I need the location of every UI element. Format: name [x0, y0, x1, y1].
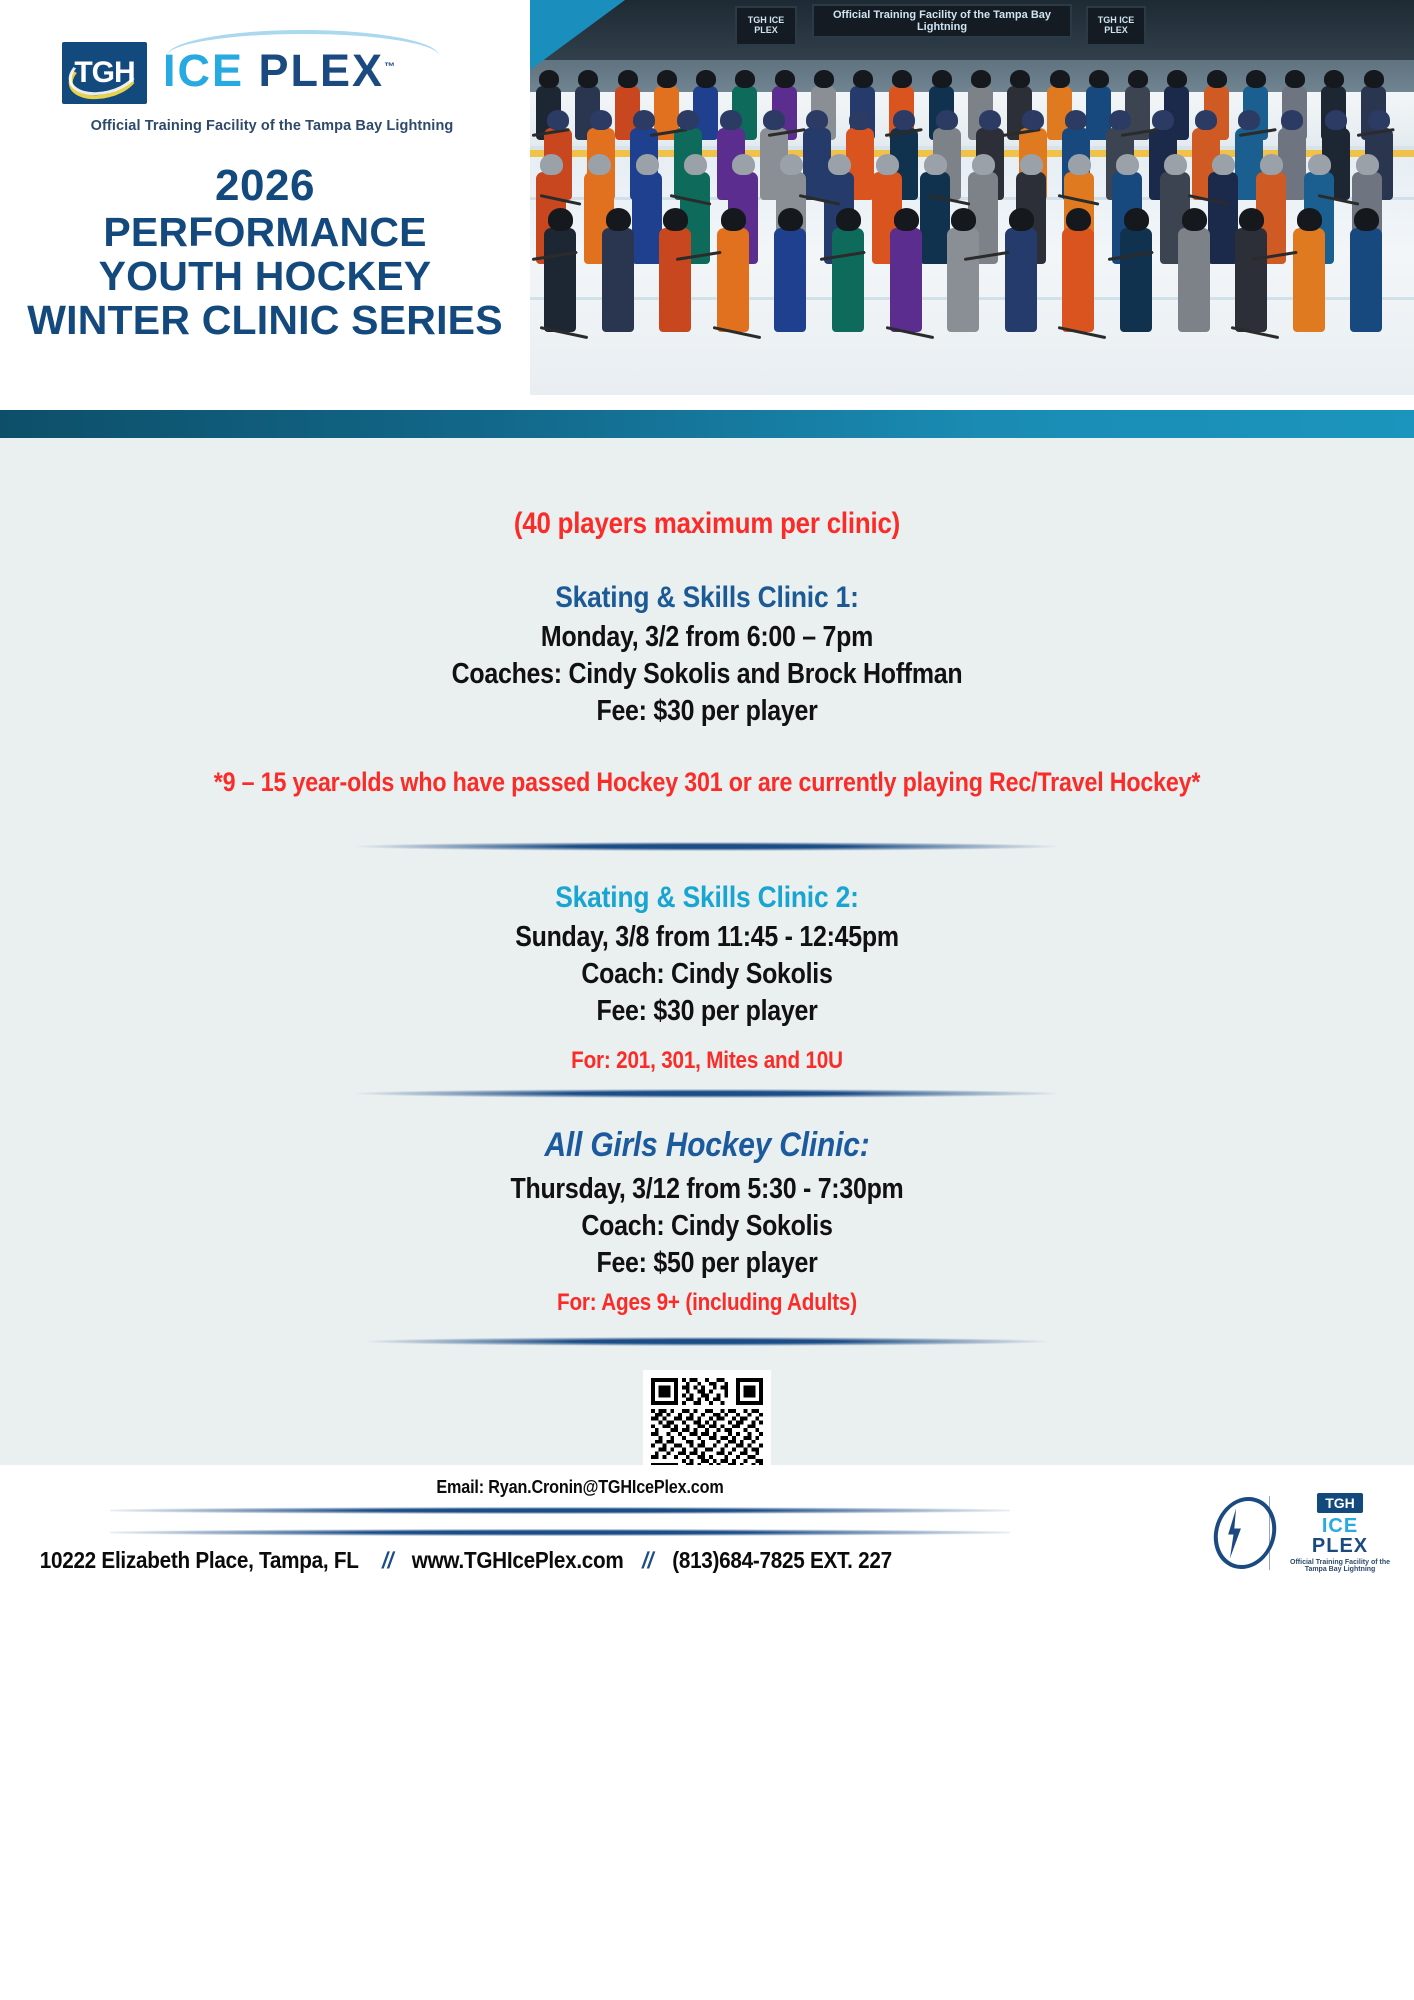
player-helmet-icon — [1364, 70, 1384, 88]
player-helmet-icon — [1195, 110, 1217, 130]
footer-logo-tagline: Official Training Facility of the Tampa … — [1280, 1559, 1400, 1573]
section-divider-3 — [367, 1337, 1047, 1346]
iceplex-arc-icon — [167, 30, 439, 56]
clinic-3-coach: Coach: Cindy Sokolis — [99, 1208, 1315, 1245]
player-helmet-icon — [849, 110, 871, 130]
player-helmet-icon — [1297, 208, 1322, 231]
clinic-3-heading: All Girls Hockey Clinic: — [85, 1126, 1329, 1165]
hockey-player — [1350, 228, 1382, 332]
clinic-block-1: Skating & Skills Clinic 1: Monday, 3/2 f… — [0, 581, 1414, 729]
player-helmet-icon — [1356, 154, 1379, 175]
player-helmet-icon — [1022, 110, 1044, 130]
title-line-1: PERFORMANCE — [0, 210, 530, 254]
hockey-player — [1235, 228, 1267, 332]
player-helmet-icon — [547, 110, 569, 130]
player-helmet-icon — [780, 154, 803, 175]
player-helmet-icon — [1246, 70, 1266, 88]
title-line-3: WINTER CLINIC SERIES — [0, 298, 530, 342]
hockey-player — [544, 228, 576, 332]
clinic-1-coaches: Coaches: Cindy Sokolis and Brock Hoffman — [99, 656, 1315, 693]
player-helmet-icon — [763, 110, 785, 130]
player-helmet-icon — [618, 70, 638, 88]
clinic-2-eligibility-note: For: 201, 301, Mites and 10U — [99, 1047, 1315, 1075]
title-year: 2026 — [0, 162, 530, 210]
clinic-2-coach: Coach: Cindy Sokolis — [99, 956, 1315, 993]
player-helmet-icon — [1124, 208, 1149, 231]
rink-banner-left: TGH ICE PLEX — [735, 6, 797, 46]
hockey-player — [1120, 228, 1152, 332]
footer-plex-text: PLEX — [1280, 1536, 1400, 1556]
clinic-block-2: Skating & Skills Clinic 2: Sunday, 3/8 f… — [0, 881, 1414, 1029]
player-helmet-icon — [1207, 70, 1227, 88]
player-helmet-icon — [732, 154, 755, 175]
footer-iceplex-logo: TGH ICE PLEX Official Training Facility … — [1280, 1493, 1400, 1573]
rink-banner-center: Official Training Facility of the Tampa … — [812, 4, 1072, 38]
clinic-2-fee: Fee: $30 per player — [99, 993, 1315, 1030]
player-helmet-icon — [696, 70, 716, 88]
player-helmet-icon — [539, 70, 559, 88]
player-helmet-icon — [1152, 110, 1174, 130]
hockey-player — [1293, 228, 1325, 332]
player-helmet-icon — [932, 70, 952, 88]
player-helmet-icon — [1050, 70, 1070, 88]
hockey-player — [890, 228, 922, 332]
hockey-player — [602, 228, 634, 332]
hockey-player — [1062, 228, 1094, 332]
team-group-photo: TGH ICE PLEX Official Training Facility … — [530, 0, 1414, 395]
hockey-player — [920, 172, 950, 264]
trademark-symbol: ™ — [384, 61, 395, 73]
hockey-player — [1178, 228, 1210, 332]
clinic-2-datetime: Sunday, 3/8 from 11:45 - 12:45pm — [99, 919, 1315, 956]
player-helmet-icon — [663, 208, 688, 231]
poster-title: 2026 PERFORMANCE YOUTH HOCKEY WINTER CLI… — [0, 162, 530, 342]
tgh-logo-mark: TGH — [62, 42, 147, 104]
player-helmet-icon — [1308, 154, 1331, 175]
player-helmet-icon — [548, 208, 573, 231]
player-helmet-icon — [924, 154, 947, 175]
player-helmet-icon — [1089, 70, 1109, 88]
player-helmet-icon — [1285, 70, 1305, 88]
player-helmet-icon — [1324, 70, 1344, 88]
player-helmet-icon — [721, 208, 746, 231]
poster-header: TGH ICE PLEX™ Official Training Facility… — [0, 0, 1414, 410]
player-helmet-icon — [1164, 154, 1187, 175]
clinic-2-heading: Skating & Skills Clinic 2: — [85, 881, 1329, 915]
player-helmet-icon — [1238, 110, 1260, 130]
photo-corner-accent — [530, 0, 625, 70]
player-helmet-icon — [1281, 110, 1303, 130]
player-helmet-icon — [972, 154, 995, 175]
clinic-3-eligibility-note: For: Ages 9+ (including Adults) — [99, 1289, 1315, 1317]
player-helmet-icon — [578, 70, 598, 88]
clinic-1-fee: Fee: $30 per player — [99, 693, 1315, 730]
footer-phone[interactable]: (813)684-7825 EXT. 227 — [672, 1547, 892, 1574]
footer-address: 10222 Elizabeth Place, Tampa, FL — [40, 1547, 359, 1574]
player-helmet-icon — [1325, 110, 1347, 130]
clinic-3-fee: Fee: $50 per player — [99, 1245, 1315, 1282]
header-divider-bar — [0, 410, 1414, 438]
player-helmet-icon — [720, 110, 742, 130]
section-divider-2 — [357, 1089, 1057, 1098]
title-line-2: YOUTH HOCKEY — [0, 254, 530, 298]
poster-footer: Email: Ryan.Cronin@TGHIcePlex.com 10222 … — [0, 1465, 1414, 1593]
player-helmet-icon — [806, 110, 828, 130]
player-helmet-icon — [892, 70, 912, 88]
player-helmet-icon — [894, 208, 919, 231]
player-helmet-icon — [1167, 70, 1187, 88]
lightning-bolt-icon — [1210, 1489, 1259, 1577]
player-helmet-icon — [836, 208, 861, 231]
player-helmet-icon — [684, 154, 707, 175]
player-helmet-icon — [1116, 154, 1139, 175]
player-helmet-icon — [936, 110, 958, 130]
player-helmet-icon — [540, 154, 563, 175]
player-helmet-icon — [1010, 70, 1030, 88]
clinic-1-heading: Skating & Skills Clinic 1: — [85, 581, 1329, 615]
header-left-panel: TGH ICE PLEX™ Official Training Facility… — [0, 0, 530, 410]
player-helmet-icon — [1182, 208, 1207, 231]
footer-separator-2: // — [634, 1547, 661, 1574]
player-helmet-icon — [633, 110, 655, 130]
player-helmet-icon — [1260, 154, 1283, 175]
player-helmet-icon — [1020, 154, 1043, 175]
player-helmet-icon — [1354, 208, 1379, 231]
player-helmet-icon — [1128, 70, 1148, 88]
player-helmet-icon — [814, 70, 834, 88]
hockey-player — [717, 228, 749, 332]
player-helmet-icon — [590, 110, 612, 130]
player-helmet-icon — [853, 70, 873, 88]
header-tagline: Official Training Facility of the Tampa … — [62, 118, 482, 134]
divider-gap — [0, 438, 1414, 449]
clinic-1-eligibility-note: *9 – 15 year-olds who have passed Hockey… — [99, 767, 1315, 798]
footer-email[interactable]: Email: Ryan.Cronin@TGHIcePlex.com — [58, 1477, 1102, 1498]
clinic-3-datetime: Thursday, 3/12 from 5:30 - 7:30pm — [99, 1171, 1315, 1208]
footer-logo: TGH ICE PLEX Official Training Facility … — [1210, 1483, 1400, 1583]
player-helmet-icon — [1066, 208, 1091, 231]
player-helmet-icon — [677, 110, 699, 130]
hockey-player — [947, 228, 979, 332]
footer-rule-top — [110, 1507, 1010, 1514]
clinic-1-datetime: Monday, 3/2 from 6:00 – 7pm — [99, 619, 1315, 656]
player-helmet-icon — [778, 208, 803, 231]
hockey-player — [832, 228, 864, 332]
max-players-note: (40 players maximum per clinic) — [99, 507, 1315, 541]
hockey-player — [1208, 172, 1238, 264]
player-helmet-icon — [588, 154, 611, 175]
player-helmet-icon — [657, 70, 677, 88]
player-helmet-icon — [1368, 110, 1390, 130]
clinic-block-3: All Girls Hockey Clinic: Thursday, 3/12 … — [0, 1126, 1414, 1281]
hockey-player — [774, 228, 806, 332]
player-helmet-icon — [1109, 110, 1131, 130]
player-helmet-icon — [893, 110, 915, 130]
player-helmet-icon — [979, 110, 1001, 130]
footer-tgh-text: TGH — [1317, 1493, 1363, 1513]
hockey-player — [659, 228, 691, 332]
rink-banner-right: TGH ICE PLEX — [1086, 6, 1146, 46]
hockey-player — [1005, 228, 1037, 332]
hockey-player — [632, 172, 662, 264]
tgh-logo-text: TGH — [74, 56, 134, 90]
player-helmet-icon — [606, 208, 631, 231]
section-divider-1 — [357, 842, 1057, 851]
player-helmet-icon — [971, 70, 991, 88]
player-helmet-icon — [636, 154, 659, 175]
player-helmet-icon — [1065, 110, 1087, 130]
iceplex-wordmark: ICE PLEX™ — [163, 42, 395, 93]
player-helmet-icon — [735, 70, 755, 88]
player-helmet-icon — [876, 154, 899, 175]
player-helmet-icon — [951, 208, 976, 231]
player-helmet-icon — [1068, 154, 1091, 175]
poster-body: (40 players maximum per clinic) Skating … — [0, 449, 1414, 1593]
player-helmet-icon — [828, 154, 851, 175]
player-helmet-icon — [1239, 208, 1264, 231]
footer-contact-row: 10222 Elizabeth Place, Tampa, FL // www.… — [22, 1547, 1272, 1574]
footer-ice-text: ICE — [1280, 1516, 1400, 1536]
player-helmet-icon — [1009, 208, 1034, 231]
player-helmet-icon — [1212, 154, 1235, 175]
footer-rule-bottom — [110, 1529, 1010, 1536]
footer-separator-1: // — [375, 1547, 402, 1574]
tgh-ice-plex-logo: TGH ICE PLEX™ — [62, 42, 395, 104]
footer-website[interactable]: www.TGHIcePlex.com — [412, 1547, 624, 1574]
player-helmet-icon — [775, 70, 795, 88]
